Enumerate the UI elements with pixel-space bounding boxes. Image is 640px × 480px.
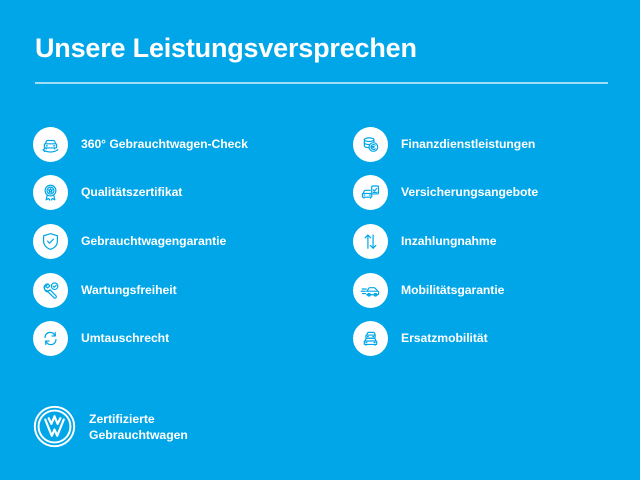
- promises-column-right: Finanzdienstleistungen Versicherungsange…: [320, 120, 640, 363]
- car-360-check-icon: [33, 127, 68, 162]
- brand-text: Zertifizierte Gebrauchtwagen: [89, 411, 188, 443]
- promise-label: Ersatzmobilität: [401, 331, 488, 346]
- header-divider: [35, 82, 608, 84]
- promise-item-umtauschrecht[interactable]: Umtauschrecht: [33, 314, 320, 363]
- brand-line-1: Zertifizierte: [89, 411, 188, 427]
- promise-label: Qualitätszertifikat: [81, 185, 182, 200]
- promises-panel: Unsere Leistungsversprechen 360° Gebrauc: [0, 0, 640, 480]
- brand-line-2: Gebrauchtwagen: [89, 427, 188, 443]
- promise-item-inzahlungnahme[interactable]: Inzahlungnahme: [353, 217, 640, 266]
- car-document-icon: [353, 175, 388, 210]
- page-title: Unsere Leistungsversprechen: [35, 31, 609, 65]
- volkswagen-logo: [32, 404, 77, 449]
- promise-item-wartungsfreiheit[interactable]: Wartungsfreiheit: [33, 266, 320, 315]
- wrench-check-icon: [33, 273, 68, 308]
- promise-item-versicherungsangebote[interactable]: Versicherungsangebote: [353, 169, 640, 218]
- promise-label: Wartungsfreiheit: [81, 283, 177, 298]
- brand-footer: Zertifizierte Gebrauchtwagen: [32, 404, 188, 449]
- header: Unsere Leistungsversprechen: [35, 31, 609, 84]
- promise-label: Mobilitätsgarantie: [401, 283, 504, 298]
- coins-euro-icon: [353, 127, 388, 162]
- promise-item-gebrauchtwagengarantie[interactable]: Gebrauchtwagengarantie: [33, 217, 320, 266]
- promise-item-mobilitaetsgarantie[interactable]: Mobilitätsgarantie: [353, 266, 640, 315]
- promise-label: Finanzdienstleistungen: [401, 137, 535, 152]
- exchange-arrows-icon: [33, 321, 68, 356]
- promise-item-360-check[interactable]: 360° Gebrauchtwagen-Check: [33, 120, 320, 169]
- car-motion-icon: [353, 273, 388, 308]
- shield-check-icon: [33, 224, 68, 259]
- two-cars-icon: [353, 321, 388, 356]
- promises-column-left: 360° Gebrauchtwagen-Check Qualitätszerti…: [0, 120, 320, 363]
- promise-item-qualitaetszertifikat[interactable]: Qualitätszertifikat: [33, 169, 320, 218]
- up-down-arrows-icon: [353, 224, 388, 259]
- promise-item-finanzdienstleistungen[interactable]: Finanzdienstleistungen: [353, 120, 640, 169]
- award-rosette-icon: [33, 175, 68, 210]
- promise-item-ersatzmobilitaet[interactable]: Ersatzmobilität: [353, 314, 640, 363]
- promise-label: Inzahlungnahme: [401, 234, 496, 249]
- promise-label: Versicherungsangebote: [401, 185, 538, 200]
- promise-label: Gebrauchtwagengarantie: [81, 234, 226, 249]
- promises-columns: 360° Gebrauchtwagen-Check Qualitätszerti…: [0, 120, 640, 363]
- promise-label: Umtauschrecht: [81, 331, 169, 346]
- promise-label: 360° Gebrauchtwagen-Check: [81, 137, 248, 152]
